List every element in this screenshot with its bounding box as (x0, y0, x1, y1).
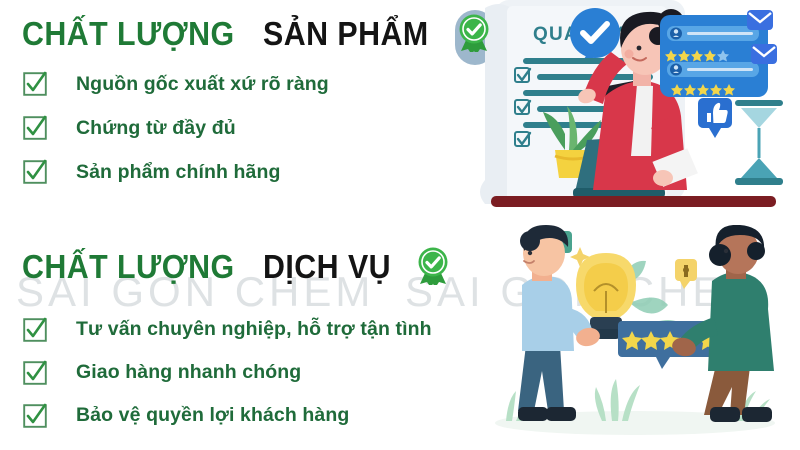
checkbox-check-icon (22, 159, 48, 185)
list-item: Nguồn gốc xuất xứ rõ ràng (22, 62, 462, 106)
section-heading-service-quality: CHẤT LƯỢNG DỊCH VỤ (22, 247, 450, 285)
list-item-label: Nguồn gốc xuất xứ rõ ràng (76, 73, 329, 96)
list-item: Tư vấn chuyên nghiệp, hỗ trợ tận tình (22, 308, 462, 351)
list-item: Giao hàng nhanh chóng (22, 351, 462, 394)
list-item-label: Giao hàng nhanh chóng (76, 361, 301, 384)
list-item: Chứng từ đầy đủ (22, 106, 462, 150)
text-column: CHẤT LƯỢNG SẢN PHẨM (0, 0, 470, 450)
service-rating-illustration: ? (470, 225, 800, 450)
checkbox-check-icon (22, 360, 48, 386)
feature-list-service-quality: Tư vấn chuyên nghiệp, hỗ trợ tận tình Gi… (22, 308, 462, 437)
heading-black-text: SẢN PHẨM (263, 17, 429, 50)
list-item: Bảo vệ quyền lợi khách hàng (22, 394, 462, 437)
checkbox-check-icon (22, 71, 48, 97)
feature-list-product-quality: Nguồn gốc xuất xứ rõ ràng Chứng từ đầy đ… (22, 62, 462, 194)
heading-green-text: CHẤT LƯỢNG (22, 250, 235, 283)
section-heading-product-quality: CHẤT LƯỢNG SẢN PHẨM (22, 14, 491, 52)
list-item-label: Bảo vệ quyền lợi khách hàng (76, 404, 349, 427)
list-item: Sản phẩm chính hãng (22, 150, 462, 194)
ribbon-check-badge-icon (416, 247, 450, 285)
list-item-label: Tư vấn chuyên nghiệp, hỗ trợ tận tình (76, 318, 432, 341)
list-item-label: Sản phẩm chính hãng (76, 161, 281, 184)
heading-black-text: DỊCH VỤ (263, 250, 391, 283)
ribbon-check-badge-icon (457, 14, 491, 52)
infographic-canvas: SAI GON CHEM SAI GON CHEM QUALITY (0, 0, 800, 450)
checkbox-check-icon (22, 317, 48, 343)
quality-checklist-illustration: QUALITY (455, 0, 800, 215)
heading-green-text: CHẤT LƯỢNG (22, 17, 235, 50)
list-item-label: Chứng từ đầy đủ (76, 117, 236, 140)
checkbox-check-icon (22, 403, 48, 429)
checkbox-check-icon (22, 115, 48, 141)
